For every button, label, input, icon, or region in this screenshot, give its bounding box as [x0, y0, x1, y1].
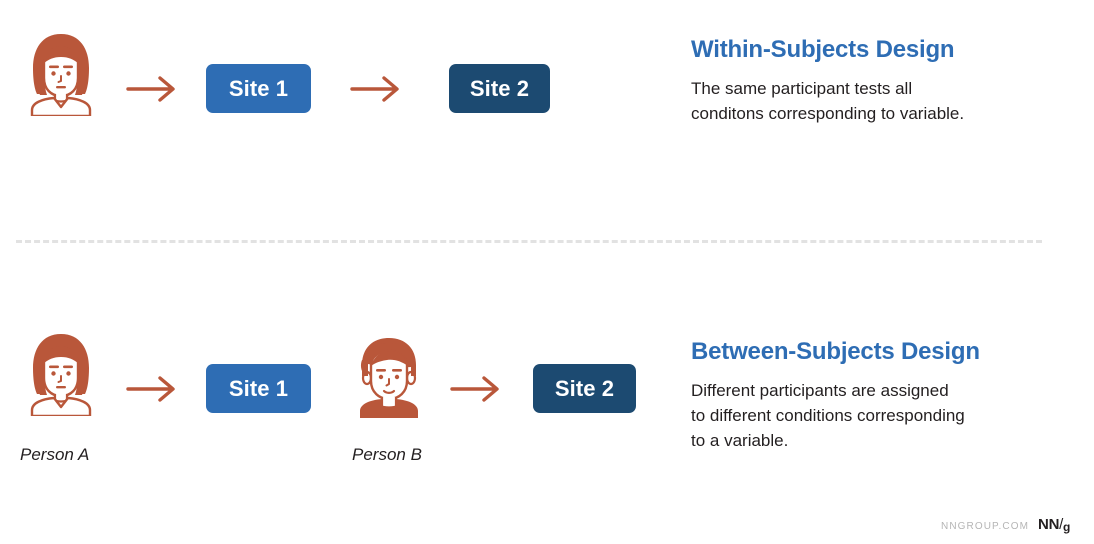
person-avatar-male	[350, 336, 428, 418]
site-2-chip[interactable]: Site 2	[449, 64, 550, 113]
person-avatar-female	[24, 32, 98, 116]
nng-logo: NN/g	[1038, 516, 1070, 533]
site-2-chip[interactable]: Site 2	[533, 364, 636, 413]
footer-branding: NNGROUP.COM NN/g	[941, 516, 1070, 533]
flow-arrow	[126, 374, 180, 404]
person-avatar-female	[24, 332, 98, 416]
nng-logo-nn: NN	[1038, 516, 1059, 533]
site-1-chip[interactable]: Site 1	[206, 364, 311, 413]
person-b-label: Person B	[352, 445, 422, 465]
row-heading-between-subjects: Between-Subjects Design	[691, 338, 980, 366]
row-body-within-subjects: The same participant tests all conditons…	[691, 76, 1051, 126]
site-1-label: Site 1	[229, 376, 288, 402]
body-line: to a variable.	[691, 428, 1051, 453]
footer-url: NNGROUP.COM	[941, 521, 1029, 532]
flow-arrow	[126, 74, 180, 104]
flow-arrow	[350, 74, 404, 104]
site-2-label: Site 2	[470, 76, 529, 102]
site-1-label: Site 1	[229, 76, 288, 102]
row-body-between-subjects: Different participants are assigned to d…	[691, 378, 1051, 453]
row-heading-within-subjects: Within-Subjects Design	[691, 36, 954, 64]
site-2-label: Site 2	[555, 376, 614, 402]
body-line: conditons corresponding to variable.	[691, 101, 1051, 126]
site-1-chip[interactable]: Site 1	[206, 64, 311, 113]
person-a-label: Person A	[20, 445, 89, 465]
body-line: to different conditions corresponding	[691, 403, 1051, 428]
body-line: The same participant tests all	[691, 76, 1051, 101]
infographic-canvas: Site 1 Site 2 Within-Subjects Design The…	[0, 0, 1094, 544]
nng-logo-g: g	[1063, 520, 1070, 534]
flow-arrow	[450, 374, 504, 404]
body-line: Different participants are assigned	[691, 378, 1051, 403]
section-divider	[16, 240, 1042, 243]
